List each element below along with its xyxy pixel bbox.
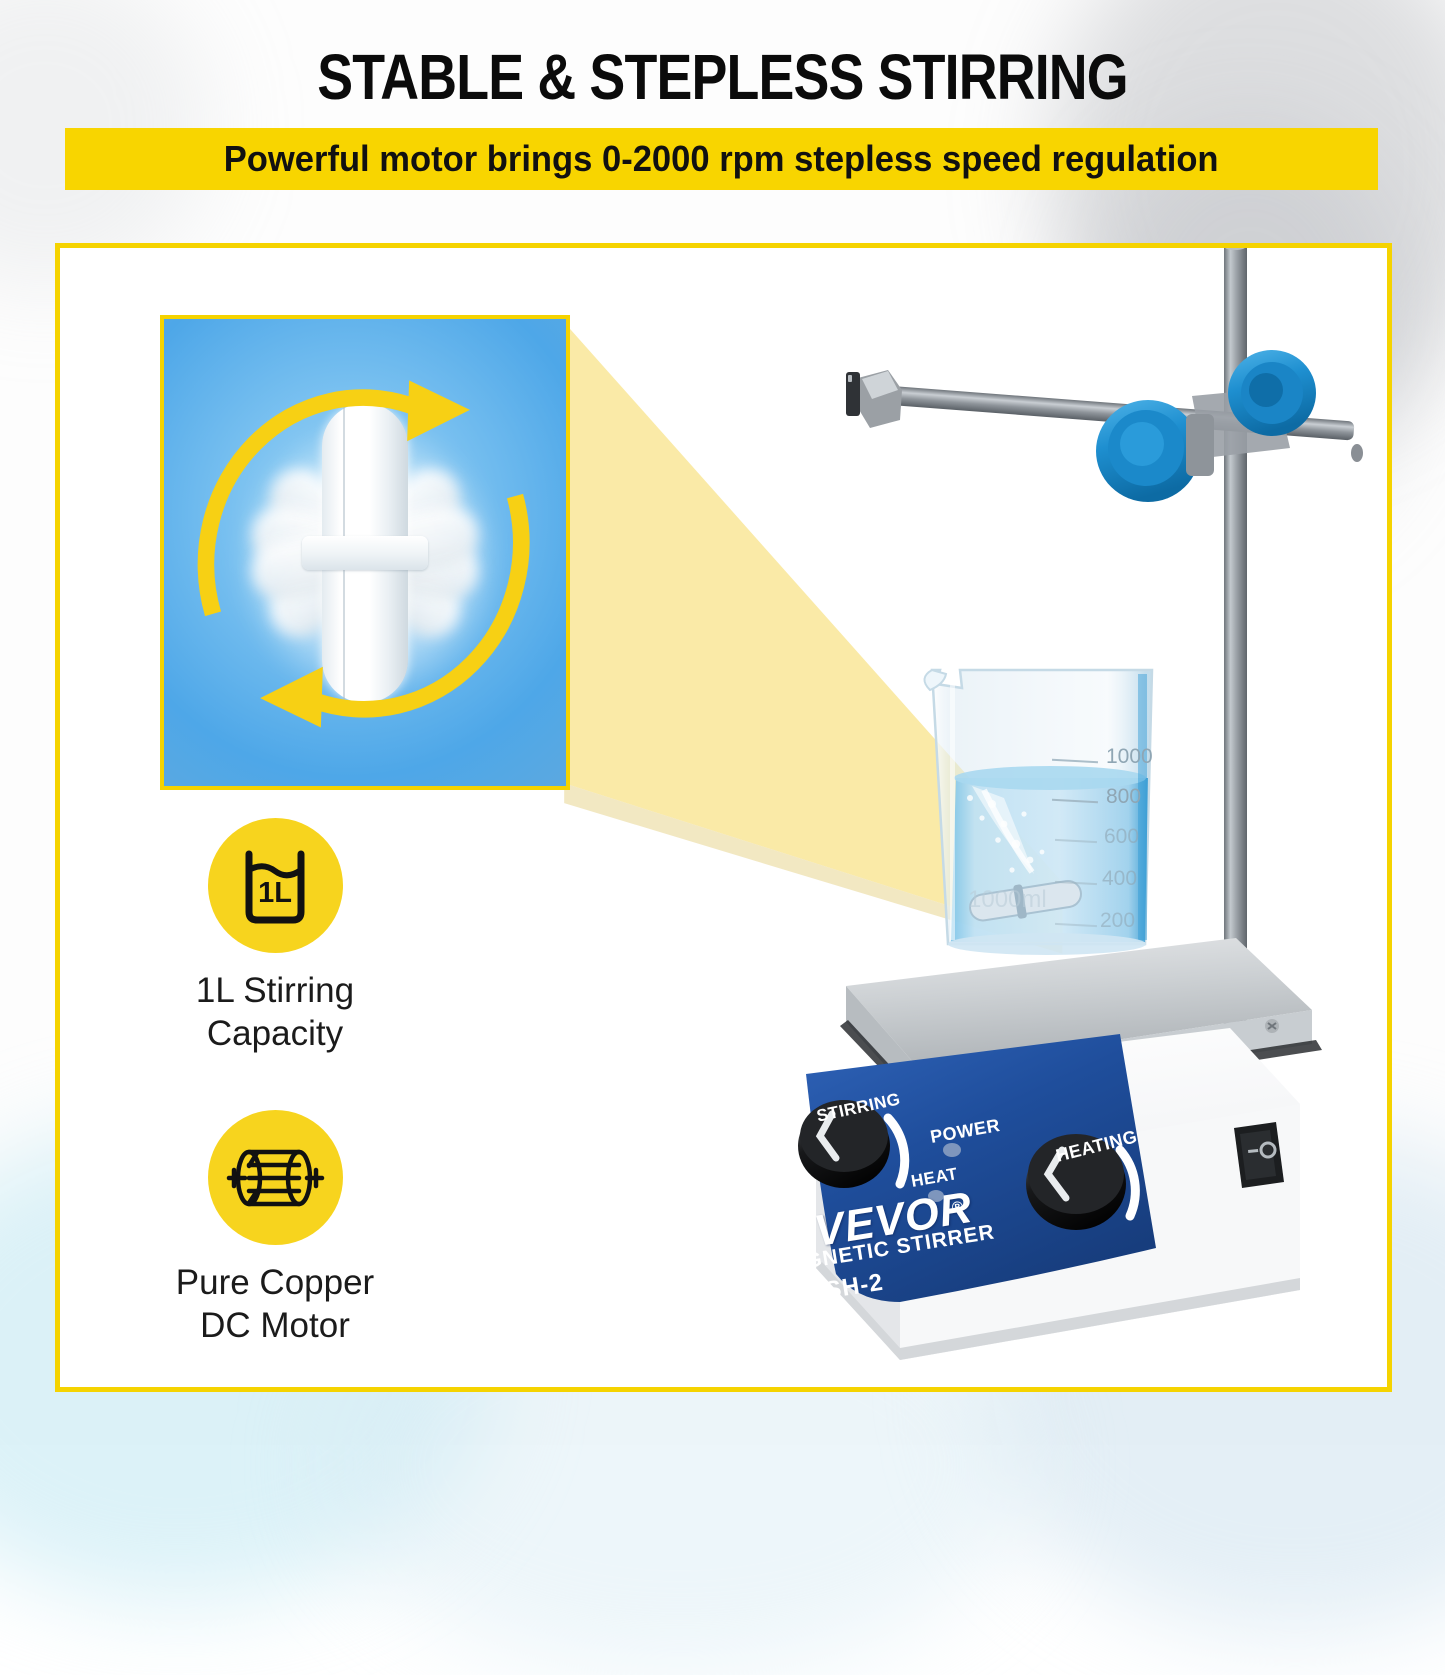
feature-caption-line2: Capacity: [145, 1012, 405, 1055]
heat-indicator-led: [928, 1190, 944, 1202]
clamp-holder: [846, 370, 902, 428]
magnified-stir-bar-inset: [160, 315, 570, 790]
feature-caption: 1L Stirring Capacity: [145, 969, 405, 1055]
feature-caption-line1: Pure Copper: [145, 1261, 405, 1304]
subheadline-banner: Powerful motor brings 0-2000 rpm steples…: [65, 128, 1378, 190]
feature-dc-motor: Pure Copper DC Motor: [145, 1110, 405, 1347]
feature-stirring-capacity: 1L 1L Stirring Capacity: [145, 818, 405, 1055]
magnetic-stirrer-product: STIRRING POWER HEAT HEATING VEVOR ® MAGN…: [600, 243, 1390, 1392]
power-indicator-led: [943, 1143, 961, 1157]
subheadline-text: Powerful motor brings 0-2000 rpm steples…: [224, 138, 1219, 180]
headline: STABLE & STEPLESS STIRRING: [116, 40, 1330, 114]
beaker-capacity-text: 1L: [258, 877, 292, 909]
beaker: [924, 670, 1152, 955]
beaker-1l-icon: 1L: [229, 840, 321, 932]
feature-caption: Pure Copper DC Motor: [145, 1261, 405, 1347]
heating-knob: [1026, 1134, 1126, 1230]
clamp-knob-right: [1228, 350, 1316, 436]
clamp-knob-left: [1096, 400, 1200, 502]
beaker-1l-icon-badge: 1L: [208, 818, 343, 953]
feature-caption-line2: DC Motor: [145, 1304, 405, 1347]
dc-motor-icon: [223, 1139, 327, 1217]
dc-motor-icon-badge: [208, 1110, 343, 1245]
rotation-arrows-icon: [164, 319, 566, 786]
product-showcase-frame: 1L 1L Stirring Capacity: [55, 243, 1392, 1392]
feature-caption-line1: 1L Stirring: [145, 969, 405, 1012]
power-rocker-switch: [1234, 1122, 1284, 1188]
stirring-knob: [798, 1100, 890, 1188]
